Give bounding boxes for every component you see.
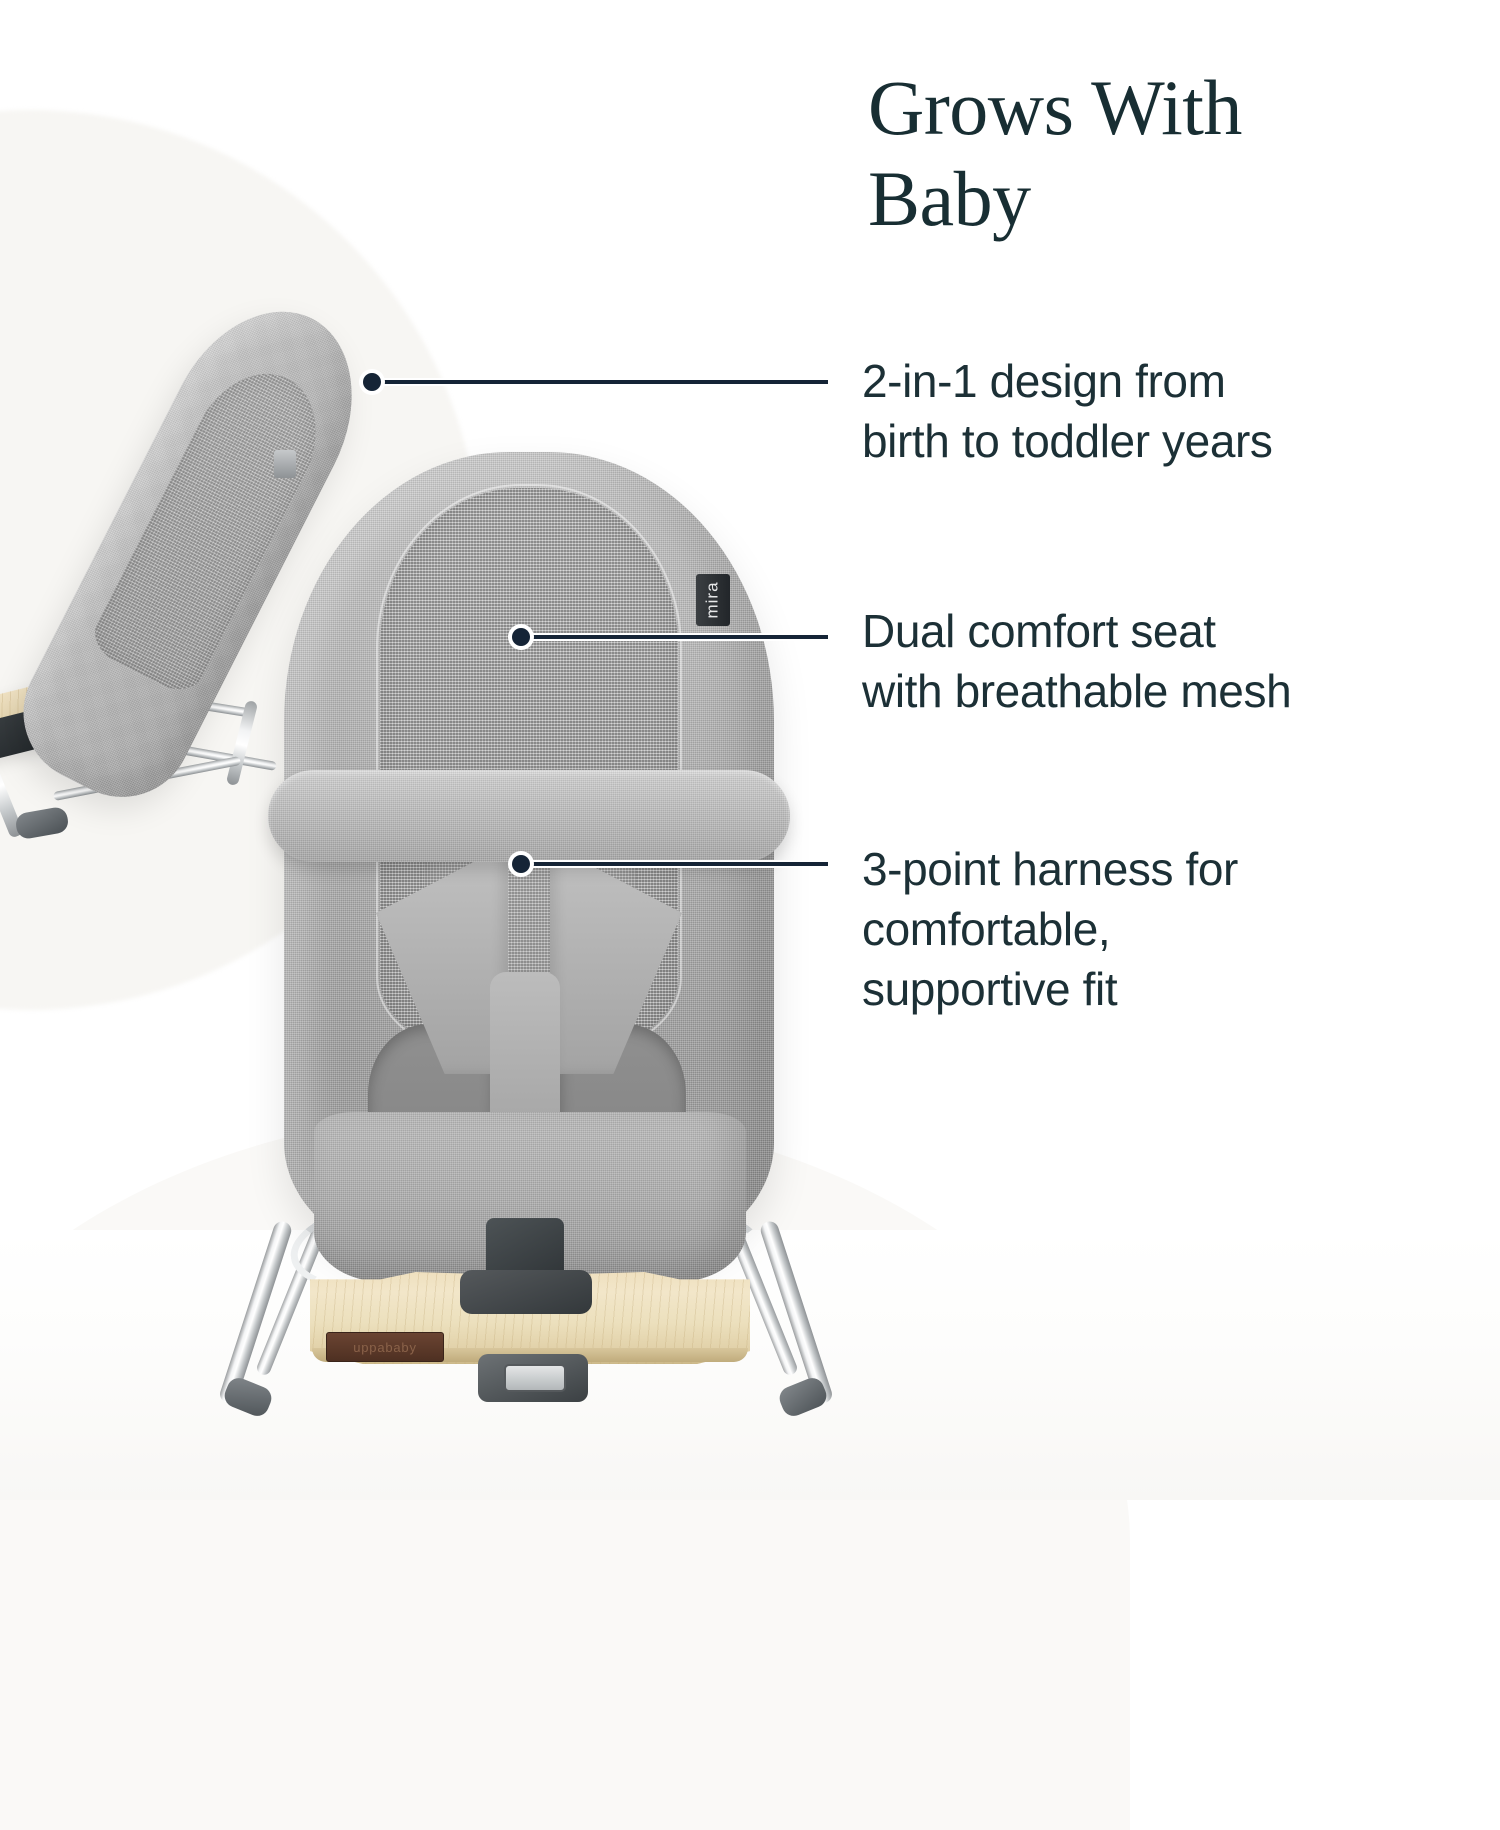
mira-logo-label: mira	[703, 581, 723, 618]
recline-adjuster-button[interactable]	[504, 1364, 566, 1392]
leader-line	[521, 862, 828, 866]
callout-text-design: 2-in-1 design from birth to toddler year…	[862, 352, 1452, 472]
callout-text-harness: 3-point harness for comfortable, support…	[862, 840, 1452, 1019]
callout-dot	[512, 628, 530, 646]
callout-text-seat: Dual comfort seat with breathable mesh	[862, 602, 1452, 722]
harness-crossbar-weave	[268, 770, 790, 862]
rubber-foot	[14, 806, 70, 841]
page-title-line-2: Baby	[868, 153, 1468, 244]
leader-line	[372, 380, 828, 384]
page-title: Grows With Baby	[868, 62, 1468, 245]
callout-line: birth to toddler years	[862, 412, 1452, 472]
uppababy-tag-label: uppababy	[353, 1340, 417, 1355]
callout-line: 3-point harness for	[862, 840, 1452, 900]
callout-line: 2-in-1 design from	[862, 352, 1452, 412]
callout-line: Dual comfort seat	[862, 602, 1452, 662]
callout-line: supportive fit	[862, 960, 1452, 1020]
mira-logo-tab: mira	[696, 574, 730, 626]
infographic-canvas: mira uppababy Grows With Baby	[0, 0, 1500, 1500]
recline-hinge-middle	[460, 1270, 592, 1314]
callout-dot	[363, 373, 381, 391]
leader-line	[521, 635, 828, 639]
callout-line: with breathable mesh	[862, 662, 1452, 722]
page-title-line-1: Grows With	[868, 62, 1468, 153]
callout-dot	[512, 855, 530, 873]
product-image-bouncer-upright: mira uppababy	[228, 452, 828, 1402]
callout-line: comfortable,	[862, 900, 1452, 960]
uppababy-leather-tag: uppababy	[326, 1332, 444, 1362]
